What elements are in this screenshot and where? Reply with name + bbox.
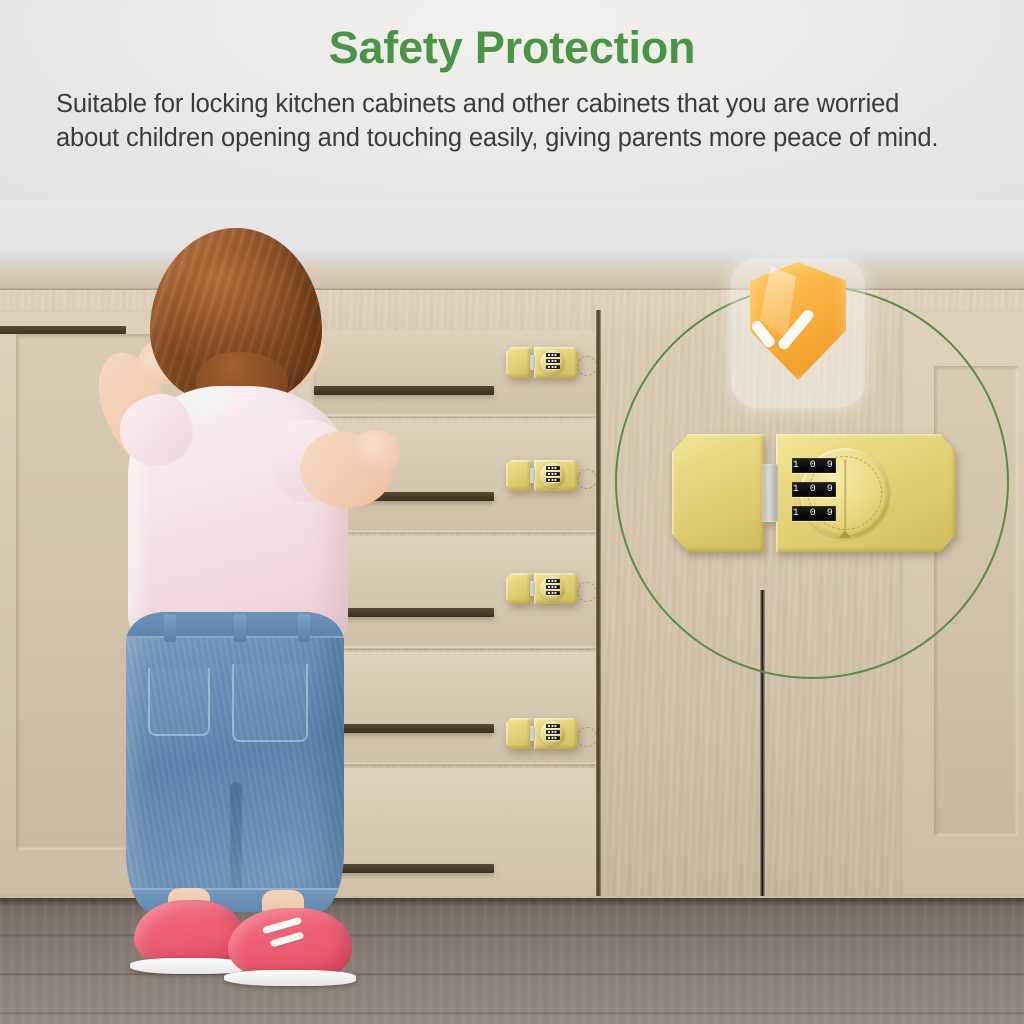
combination-windows xyxy=(540,724,565,740)
page-description: Suitable for locking kitchen cabinets an… xyxy=(56,88,968,156)
combination-window xyxy=(546,736,560,740)
dial-ring xyxy=(577,582,597,602)
combination-window xyxy=(546,353,560,357)
lock-plate-fixed xyxy=(506,460,531,491)
combination-windows xyxy=(540,466,565,482)
checkmark-icon xyxy=(767,298,829,344)
dial-index-marker xyxy=(839,530,851,538)
combination-window xyxy=(546,724,560,728)
dial-ring xyxy=(577,727,597,747)
combination-window xyxy=(546,365,560,369)
combination-window-1[interactable]: 1 0 9 xyxy=(792,458,836,473)
drawer-lock-2[interactable] xyxy=(506,460,578,491)
combination-window xyxy=(546,359,560,363)
combination-window xyxy=(546,472,560,476)
floor-plank-texture xyxy=(0,898,1024,1024)
combination-window xyxy=(546,730,560,734)
page-title: Safety Protection xyxy=(0,22,1024,74)
combination-window xyxy=(546,466,560,470)
cabinet-door-right xyxy=(900,310,1024,896)
combination-window-2[interactable]: 1 0 9 xyxy=(792,482,836,497)
combination-windows xyxy=(540,353,565,369)
combination-window xyxy=(546,478,560,482)
combination-window xyxy=(546,585,560,589)
combination-window xyxy=(546,579,560,583)
combination-windows xyxy=(540,579,565,595)
lock-hinge xyxy=(530,581,535,596)
cabinet-seam-right xyxy=(760,590,765,900)
lock-hinge xyxy=(530,355,535,370)
combination-window xyxy=(546,591,560,595)
lock-hinge xyxy=(530,726,535,741)
drawer-pull xyxy=(314,492,494,501)
combination-windows: 1 0 9 1 0 9 1 0 9 xyxy=(672,458,956,521)
door-panel-left xyxy=(16,334,294,850)
drawer-lock-1[interactable] xyxy=(506,347,578,378)
cabinet-lock-detail[interactable]: 1 0 9 1 0 9 1 0 9 xyxy=(672,434,956,552)
dial-ring xyxy=(577,356,597,376)
header-banner: Safety Protection Suitable for locking k… xyxy=(0,0,1024,215)
lock-plate-fixed xyxy=(506,573,531,604)
drawer-row xyxy=(316,768,596,900)
cabinet-seam-center xyxy=(596,310,601,896)
lock-plate-fixed xyxy=(506,347,531,378)
door-grip-left xyxy=(0,326,126,334)
drawer-lock-4[interactable] xyxy=(506,718,578,749)
product-marketing-image: Safety Protection Suitable for locking k… xyxy=(0,0,1024,1024)
drawer-lock-3[interactable] xyxy=(506,573,578,604)
drawer-pull xyxy=(314,386,494,395)
cabinet-door-left xyxy=(0,310,316,896)
drawer-pull xyxy=(314,724,494,733)
dial-ring xyxy=(577,469,597,489)
combination-window-3[interactable]: 1 0 9 xyxy=(792,506,836,521)
lock-plate-fixed xyxy=(506,718,531,749)
lock-hinge xyxy=(530,468,535,483)
safety-shield-badge xyxy=(723,250,873,428)
drawer-pull xyxy=(314,864,494,873)
kitchen-floor xyxy=(0,898,1024,1024)
drawer-pull xyxy=(314,608,494,617)
